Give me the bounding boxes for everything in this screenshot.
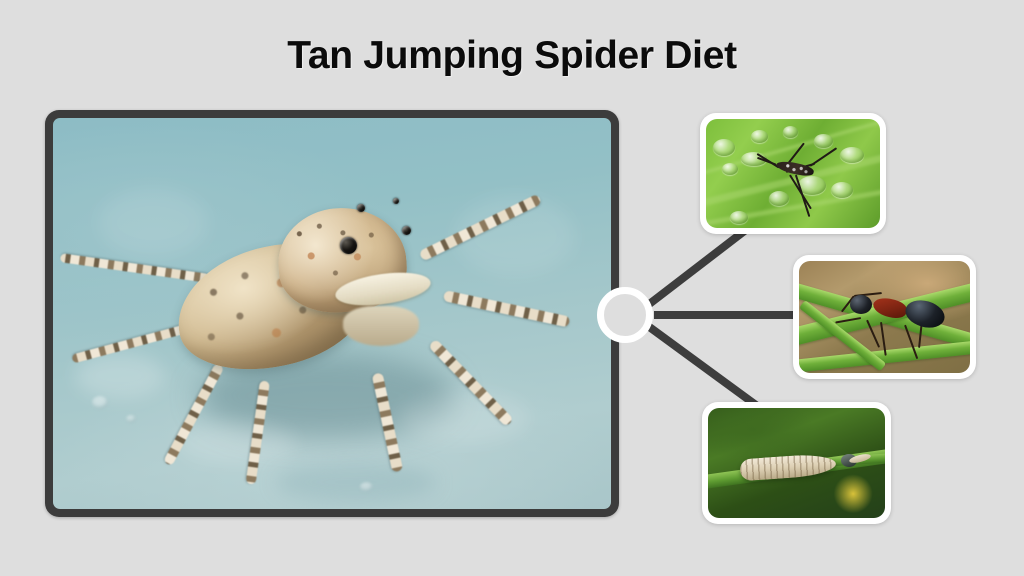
prey-thumbnail-ant[interactable] [793,255,976,379]
water-droplet [783,126,798,138]
water-droplet [769,191,789,206]
water-droplet [751,130,768,143]
prey-thumbnail-mosquito[interactable] [700,113,886,234]
ant-head [850,295,872,314]
moth-photo [708,408,885,518]
spider-leg [371,373,403,473]
page-title: Tan Jumping Spider Diet [0,34,1024,78]
water-droplet [722,163,738,175]
spider-leg [163,363,224,467]
ant-photo [799,261,970,373]
water-droplet [730,211,748,224]
spider-chelicerae [343,306,419,346]
prey-thumbnail-moth[interactable] [702,402,891,524]
spider-leg [246,380,270,484]
tan-jumping-spider-photo [53,118,611,509]
diet-hub-node[interactable] [597,287,653,343]
spider-leg [419,194,542,262]
spider-body [53,118,611,509]
spider-eye [402,226,411,235]
water-droplet [713,139,735,156]
hero-image-frame [45,110,619,517]
spider-leg [428,339,514,427]
spider-leg [442,290,569,327]
spider-eye [393,198,399,204]
spider-leg [60,254,210,284]
mosquito-photo [706,119,880,228]
